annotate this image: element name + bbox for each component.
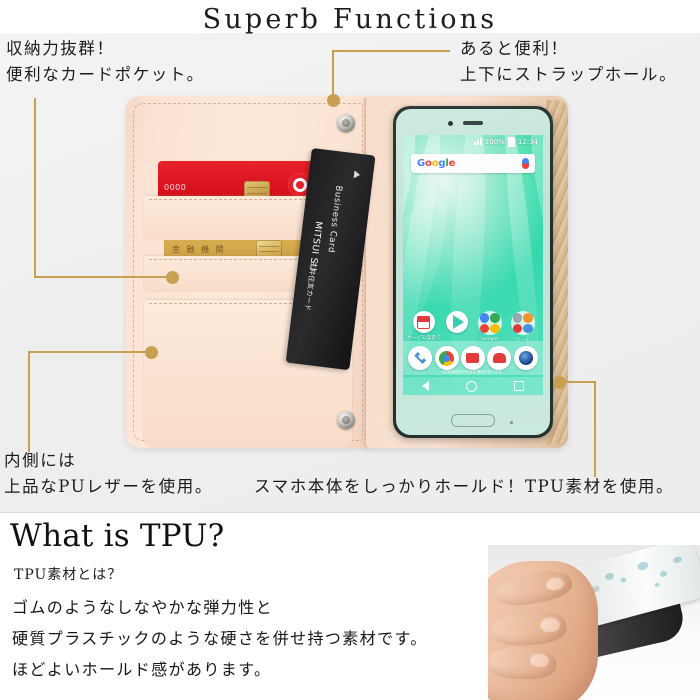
connector-line-card-pocket-vertical: [34, 98, 36, 278]
phone-icon[interactable]: [408, 346, 432, 370]
google-search-bar[interactable]: Google: [411, 154, 535, 173]
tools-folder-icon: [511, 311, 535, 335]
app-icon-news[interactable]: サービス/設定/アプリ/ヘルプ: [409, 311, 439, 341]
back-icon[interactable]: [422, 381, 429, 391]
connector-dot-tpu-hold: [553, 376, 566, 389]
connector-dot-pu-leather: [145, 346, 158, 359]
connector-dot-strap-hole: [327, 94, 340, 107]
chrome-icon[interactable]: [435, 346, 459, 370]
tpu-body-line2: 硬質プラスチックのような硬さを併せ持つ素材です。: [12, 623, 428, 654]
tpu-section-title: What is TPU?: [10, 518, 224, 554]
strap-hole-grommet-bottom: [337, 411, 355, 429]
product-infographic: Superb Functions 0000 金 融 機 関 Business C…: [0, 0, 700, 700]
connector-line-tpu-hold-vertical: [594, 381, 596, 477]
microphone-hole-icon: [510, 421, 513, 424]
connector-line-card-pocket-horizontal: [34, 276, 172, 278]
battery-percent: 100%: [485, 138, 505, 146]
home-button[interactable]: [451, 414, 495, 427]
page-title: Superb Functions: [0, 4, 700, 35]
phone-body: 100% 12:34 Google サービス/設定/アプリ/ヘル: [396, 109, 550, 435]
tpu-section-subtitle: TPU素材とは？: [14, 564, 122, 584]
business-card-mark-icon: [354, 170, 361, 179]
google-folder-icon: [478, 311, 502, 335]
recents-icon[interactable]: [514, 381, 524, 391]
tpu-section-body: ゴムのようなしなやかな弾力性と 硬質プラスチックのような硬さを併せ持つ素材です。…: [12, 592, 428, 685]
callout-pu-leather: 内側には 上品なPUレザーを使用。: [4, 448, 213, 500]
connector-dot-card-pocket: [166, 271, 179, 284]
mail-icon[interactable]: [487, 346, 511, 370]
fingernail: [530, 653, 549, 668]
camera-icon[interactable]: [514, 346, 538, 370]
connector-line-pu-leather-vertical: [28, 351, 30, 452]
home-screen-app-row: サービス/設定/アプリ/ヘルプ Google: [407, 311, 539, 343]
callout-pu-leather-line2: 上品なPUレザーを使用。: [4, 474, 213, 500]
callout-card-pocket-line2: 便利なカードポケット。: [6, 62, 205, 88]
red-card-number: 0000: [164, 183, 186, 192]
signal-icon: [474, 138, 482, 145]
app-folder-google[interactable]: Google: [475, 311, 505, 342]
callout-strap-hole: あると便利！ 上下にストラップホール。: [460, 36, 677, 88]
callout-tpu-hold: スマホ本体をしっかりホールド！TPU素材を使用。: [254, 474, 674, 500]
callout-tpu-hold-line1: スマホ本体をしっかりホールド！TPU素材を使用。: [254, 474, 674, 500]
tpu-body-line3: ほどよいホールド感があります。: [12, 654, 428, 685]
connector-line-strap-hole-vertical: [332, 50, 334, 98]
strap-hole-grommet-top: [337, 114, 355, 132]
business-card-brand-jp: 三井住友カード: [302, 260, 318, 311]
callout-card-pocket-line1: 収納力抜群！: [6, 36, 205, 62]
callout-strap-hole-line1: あると便利！: [460, 36, 677, 62]
play-store-icon: [446, 311, 468, 333]
section-divider: [0, 512, 700, 513]
status-clock: 12:34: [518, 138, 538, 146]
carrier-note: ※別途通信料がかかる場合があります。: [403, 370, 543, 375]
connector-line-strap-hole-horizontal: [332, 50, 450, 52]
callout-card-pocket: 収納力抜群！ 便利なカードポケット。: [6, 36, 205, 88]
connector-line-pu-leather-horizontal: [28, 351, 150, 353]
earpiece-icon: [463, 121, 483, 125]
phone-status-bar: 100% 12:34: [403, 135, 543, 148]
home-icon[interactable]: [466, 381, 477, 392]
tpu-flex-demo-photo: [488, 545, 700, 700]
callout-strap-hole-line2: 上下にストラップホール。: [460, 62, 677, 88]
app-icon-play-store[interactable]: [442, 311, 472, 335]
gold-card-text: 金 融 機 関: [172, 244, 226, 255]
phone-screen: 100% 12:34 Google サービス/設定/アプリ/ヘル: [403, 135, 543, 395]
business-card-label: Business Card: [325, 185, 343, 254]
smartphone: 100% 12:34 Google サービス/設定/アプリ/ヘル: [393, 106, 553, 438]
phone-nav-bar: [403, 377, 543, 395]
front-camera-icon: [448, 121, 453, 126]
callout-pu-leather-line1: 内側には: [4, 448, 213, 474]
messages-icon[interactable]: [461, 346, 485, 370]
google-logo-icon: Google: [417, 158, 455, 169]
news-app-icon: [413, 311, 435, 333]
tpu-body-line1: ゴムのようなしなやかな弾力性と: [12, 592, 428, 623]
battery-icon: [508, 137, 515, 147]
microphone-icon[interactable]: [522, 158, 529, 169]
app-folder-tools[interactable]: ツール: [508, 311, 538, 343]
